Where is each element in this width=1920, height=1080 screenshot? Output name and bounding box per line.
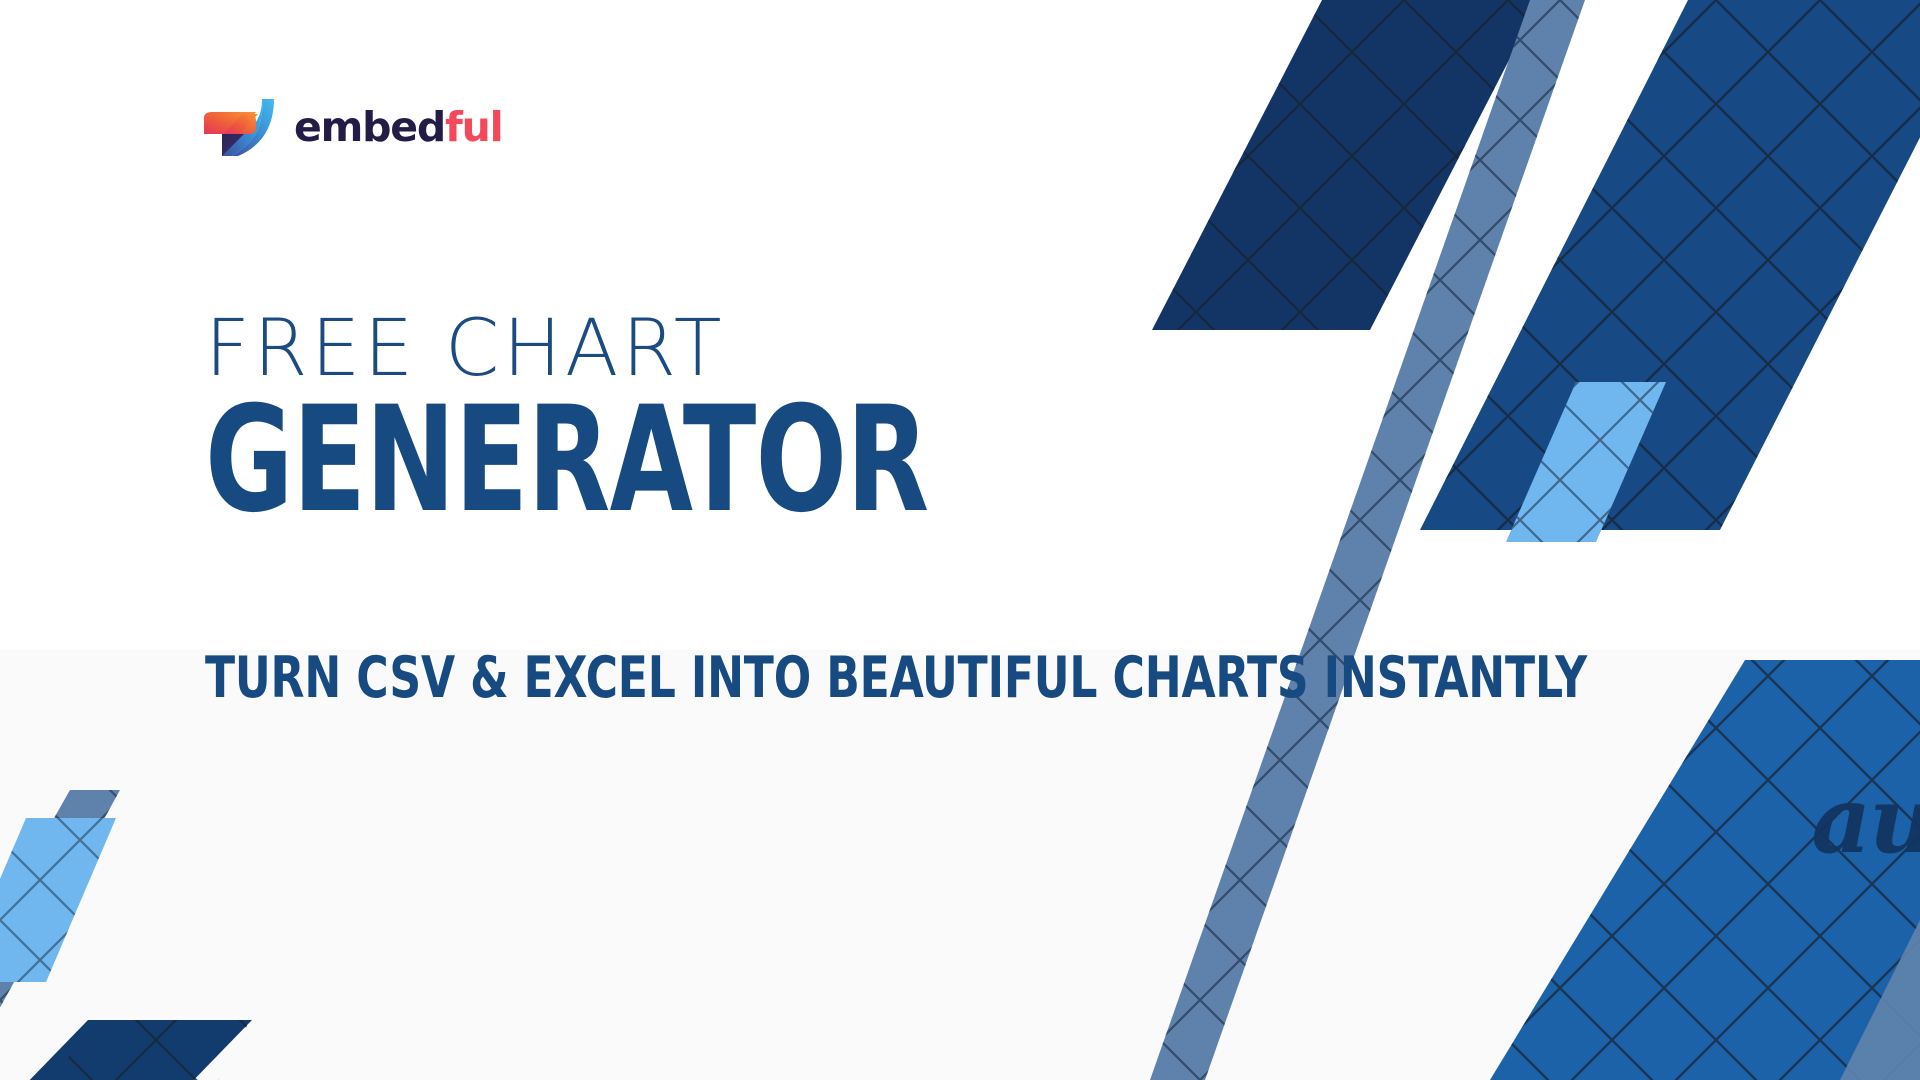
hero-banner: au: [0, 0, 1920, 1080]
brand-wordmark: embedful: [294, 107, 503, 148]
hero-headline: GENERATOR: [205, 393, 1107, 527]
hero-subheadline: TURN CSV & EXCEL INTO BEAUTIFUL CHARTS I…: [205, 650, 1587, 707]
deco-shape-top-navy-b: [1380, 0, 1920, 580]
wordmark-part-embed: embed: [294, 103, 445, 151]
brand-logo[interactable]: embedful: [202, 96, 503, 158]
deco-shape-light-blue-right: [1480, 370, 1690, 560]
wordmark-part-ful: ful: [445, 103, 502, 151]
embedful-logo-mark-icon: [202, 96, 278, 158]
hero-text-block: FREE CHART GENERATOR: [205, 312, 1305, 527]
background-band-lower: [0, 650, 1920, 1080]
